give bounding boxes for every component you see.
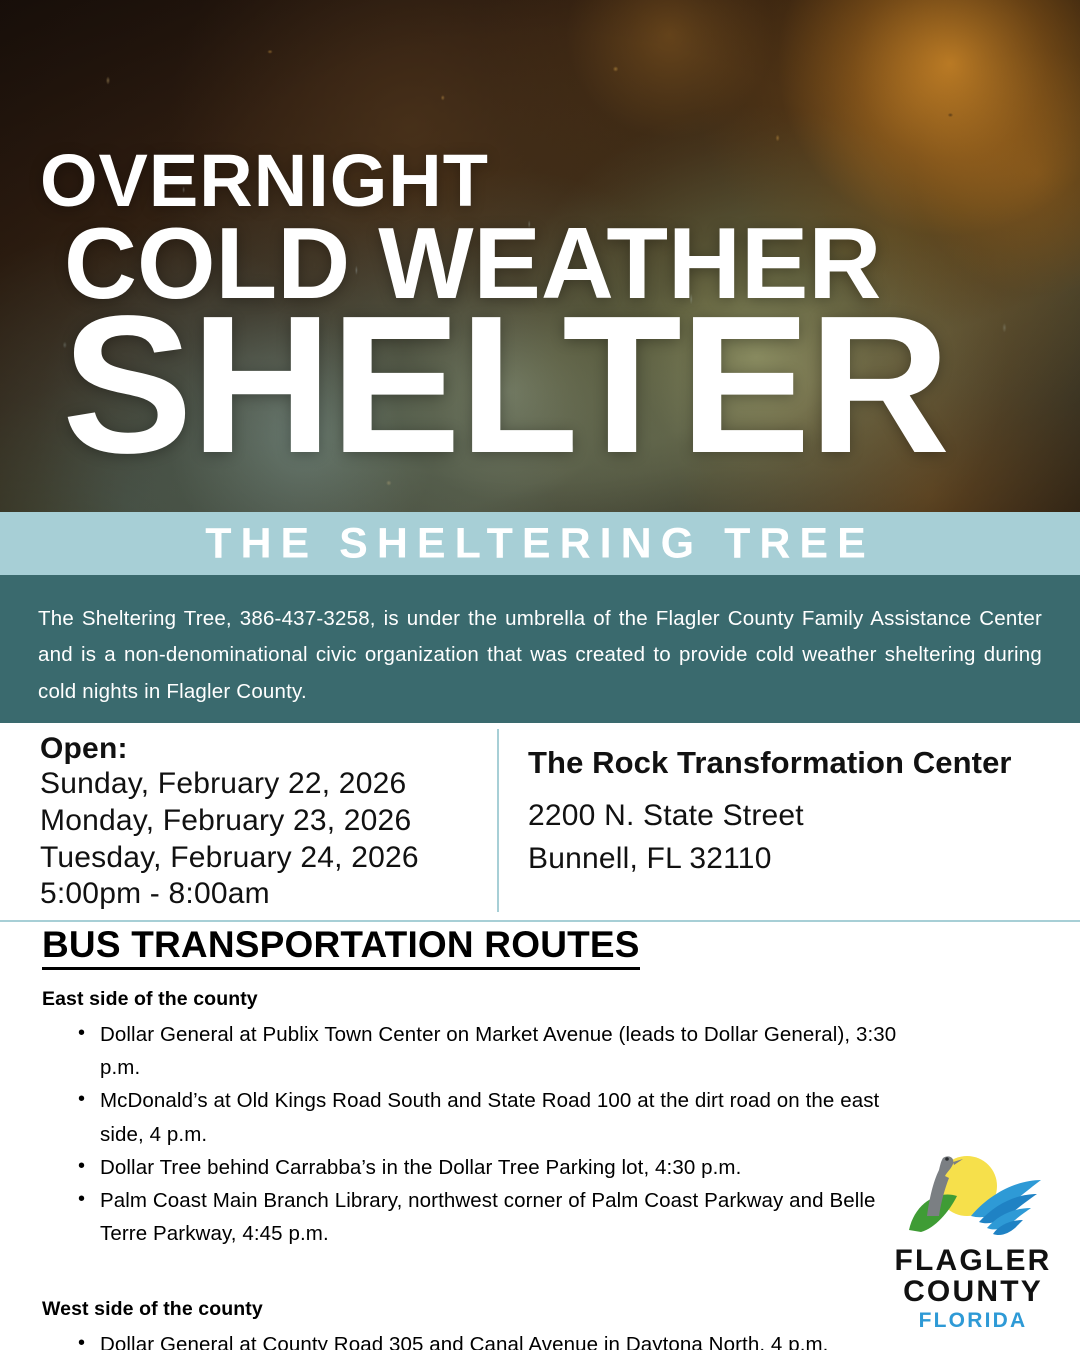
subtitle-band: THE SHELTERING TREE bbox=[0, 512, 1080, 575]
description-band: The Sheltering Tree, 386-437-3258, is un… bbox=[0, 575, 1080, 723]
list-item: Dollar General at County Road 305 and Ca… bbox=[78, 1328, 908, 1350]
venue-name: The Rock Transformation Center bbox=[528, 745, 1048, 781]
open-label: Open: bbox=[40, 731, 480, 766]
poster: OVERNIGHT COLD WEATHER SHELTER THE SHELT… bbox=[0, 0, 1080, 1350]
logo-wordmark: FLAGLER COUNTY FLORIDA bbox=[893, 1246, 1053, 1333]
east-side-heading: East side of the county bbox=[42, 988, 1080, 1011]
title-line-shelter: SHELTER bbox=[62, 303, 1050, 468]
description-text: The Sheltering Tree, 386-437-3258, is un… bbox=[38, 601, 1042, 710]
schedule-date-1: Sunday, February 22, 2026 bbox=[40, 766, 480, 803]
schedule-hours: 5:00pm - 8:00am bbox=[40, 876, 480, 913]
organization-subtitle: THE SHELTERING TREE bbox=[0, 519, 1080, 568]
list-item: Palm Coast Main Branch Library, northwes… bbox=[78, 1184, 908, 1250]
info-row: Open: Sunday, February 22, 2026 Monday, … bbox=[0, 723, 1080, 920]
logo-line-county: COUNTY bbox=[893, 1277, 1053, 1308]
list-item: Dollar Tree behind Carrabba’s in the Dol… bbox=[78, 1151, 908, 1184]
page-title: OVERNIGHT COLD WEATHER SHELTER bbox=[40, 148, 1050, 468]
flagler-county-logo: FLAGLER COUNTY FLORIDA bbox=[893, 1150, 1053, 1312]
hero-section: OVERNIGHT COLD WEATHER SHELTER bbox=[0, 0, 1080, 575]
venue-city-state-zip: Bunnell, FL 32110 bbox=[528, 838, 1048, 881]
east-side-stop-list: Dollar General at Publix Town Center on … bbox=[78, 1018, 908, 1250]
venue-street: 2200 N. State Street bbox=[528, 795, 1048, 838]
logo-line-flagler: FLAGLER bbox=[893, 1246, 1053, 1277]
venue-block: The Rock Transformation Center 2200 N. S… bbox=[528, 745, 1048, 880]
list-item: Dollar General at Publix Town Center on … bbox=[78, 1018, 908, 1084]
routes-title: BUS TRANSPORTATION ROUTES bbox=[42, 924, 640, 970]
heron-sun-waves-icon bbox=[905, 1150, 1045, 1248]
schedule-date-3: Tuesday, February 24, 2026 bbox=[40, 840, 480, 877]
title-line-overnight: OVERNIGHT bbox=[40, 148, 1050, 215]
schedule-block: Open: Sunday, February 22, 2026 Monday, … bbox=[40, 731, 480, 913]
schedule-date-2: Monday, February 23, 2026 bbox=[40, 803, 480, 840]
logo-line-florida: FLORIDA bbox=[893, 1308, 1053, 1333]
list-item: McDonald’s at Old Kings Road South and S… bbox=[78, 1084, 908, 1150]
west-side-stop-list: Dollar General at County Road 305 and Ca… bbox=[78, 1328, 908, 1350]
horizontal-divider bbox=[0, 920, 1080, 922]
vertical-divider bbox=[497, 729, 499, 912]
